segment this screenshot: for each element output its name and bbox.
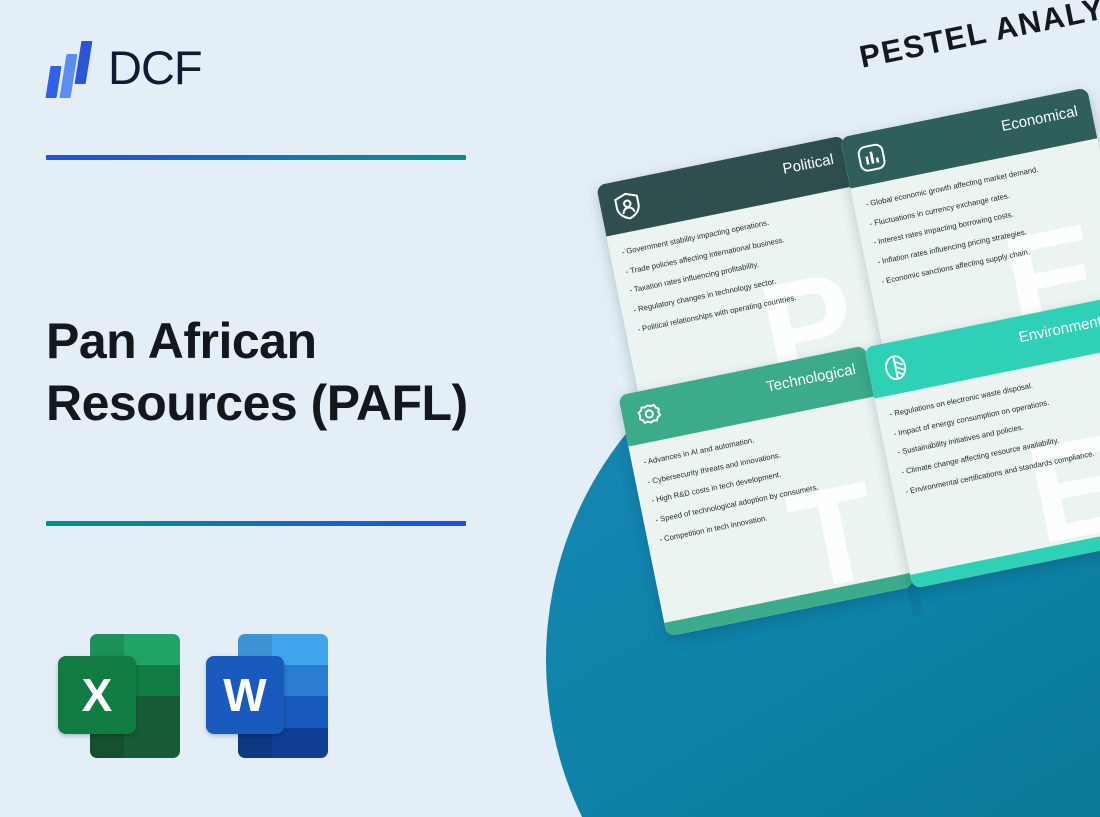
card-environment-title: Environment bbox=[1017, 313, 1100, 346]
excel-file-icon[interactable]: X bbox=[58, 632, 180, 758]
card-technological-title: Technological bbox=[765, 361, 857, 396]
bar-chart-icon bbox=[854, 140, 889, 175]
pestel-heading: PESTEL ANALYSIS bbox=[856, 0, 1100, 76]
logo-text: DCF bbox=[108, 40, 202, 95]
shield-user-icon bbox=[610, 188, 645, 223]
logo-bar-3 bbox=[75, 41, 93, 84]
leaf-icon bbox=[878, 350, 913, 385]
logo-bar-1 bbox=[45, 66, 61, 98]
word-badge-letter: W bbox=[206, 656, 284, 734]
gear-icon bbox=[632, 398, 667, 433]
card-technological[interactable]: Technological T - Advances in AI and aut… bbox=[618, 345, 914, 636]
divider-top bbox=[46, 155, 466, 160]
three-bars-logo-icon bbox=[46, 38, 108, 100]
word-file-icon[interactable]: W bbox=[206, 632, 328, 758]
card-political-title: Political bbox=[781, 151, 835, 178]
file-format-icons: X W bbox=[58, 632, 328, 758]
card-economical-title: Economical bbox=[1000, 103, 1079, 135]
divider-bottom bbox=[46, 521, 466, 526]
left-panel: DCF Pan African Resources (PAFL) X W bbox=[0, 0, 560, 817]
brand-logo[interactable]: DCF bbox=[46, 38, 346, 100]
excel-badge-letter: X bbox=[58, 656, 136, 734]
page-title: Pan African Resources (PAFL) bbox=[46, 310, 526, 434]
